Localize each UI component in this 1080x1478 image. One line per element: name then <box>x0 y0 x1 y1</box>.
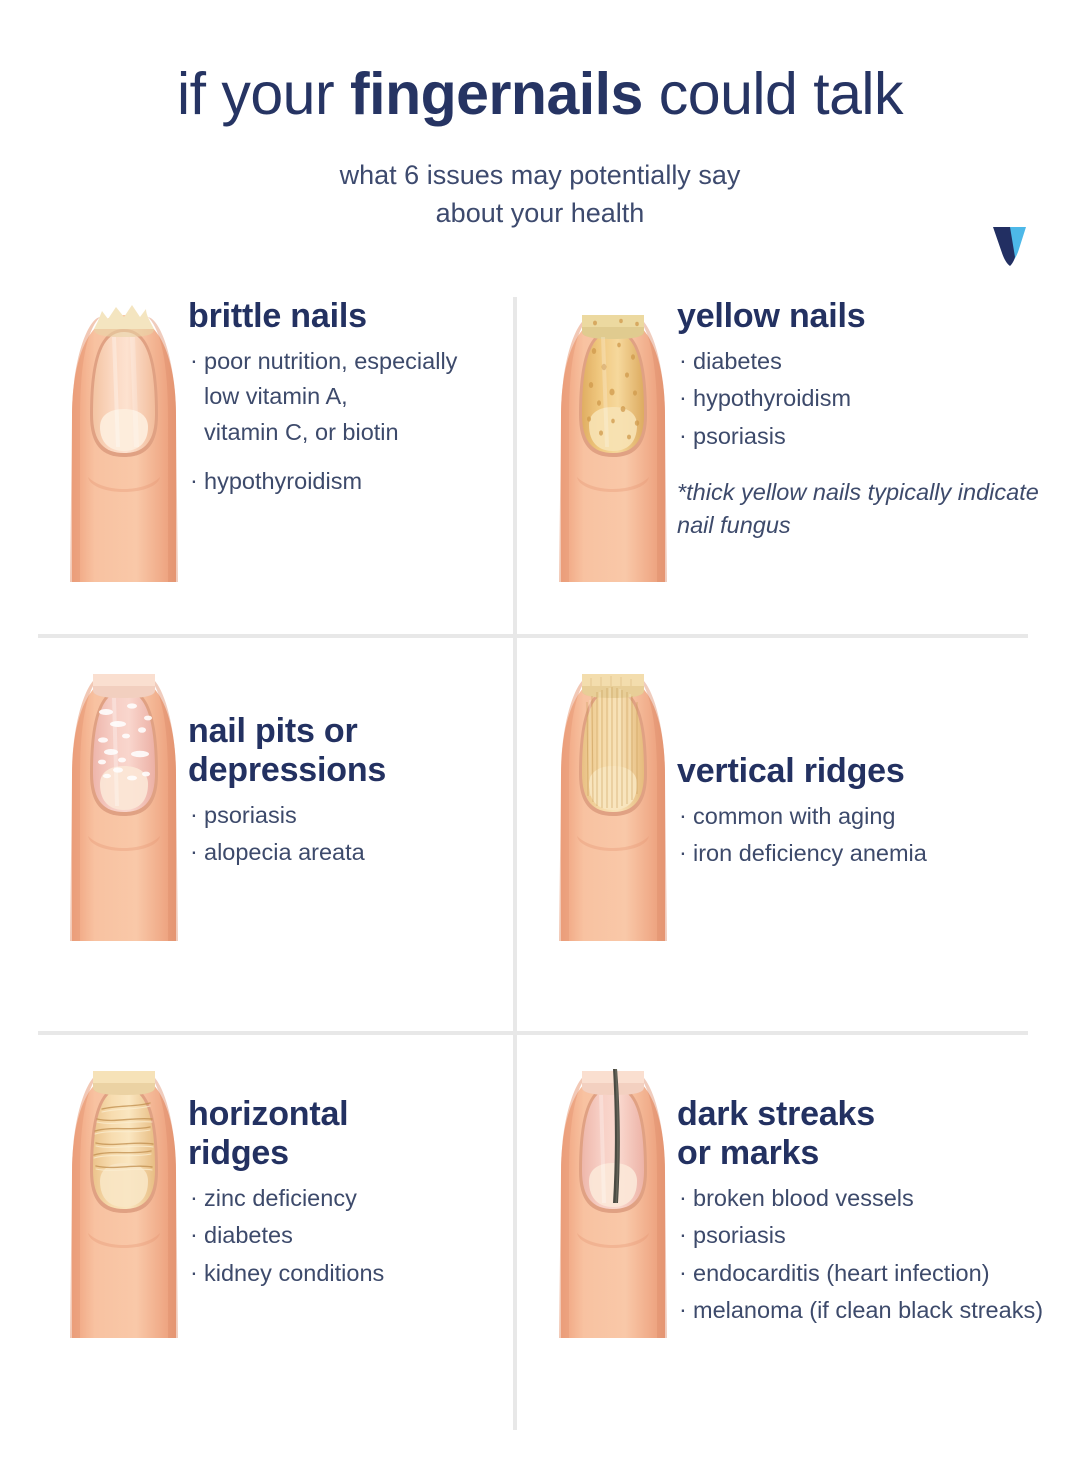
bullet-text-line: low vitamin A, <box>204 383 348 409</box>
infographic-page: if your fingernails could talk what 6 is… <box>0 0 1080 1478</box>
page-subtitle: what 6 issues may potentially say about … <box>0 156 1080 233</box>
title-part-1: if your <box>177 61 350 127</box>
bullet-list-yellow-nails: diabetes hypothyroidism psoriasis <box>677 344 1080 454</box>
card-nail-pits: nail pits or depressions psoriasis alope… <box>0 634 513 1031</box>
bullet-list-horizontal-ridges: zinc deficiency diabetes kidney conditio… <box>188 1181 513 1291</box>
card-title-line-2: or marks <box>677 1134 1080 1173</box>
bullet-item: alopecia areata <box>188 835 513 870</box>
cards-row-3: horizontal ridges zinc deficiency diabet… <box>0 1031 1080 1430</box>
subtitle-line-2: about your health <box>0 194 1080 232</box>
bullet-item: endocarditis (heart infection) <box>677 1256 1080 1291</box>
nail-illustration-yellow <box>549 297 677 582</box>
bullet-item: hypothyroidism <box>188 464 513 499</box>
card-brittle-nails: brittle nails poor nutrition, especially… <box>0 297 513 634</box>
card-yellow-nails: yellow nails diabetes hypothyroidism pso… <box>513 297 1080 634</box>
card-title-line-2: depressions <box>188 751 513 790</box>
bullet-list-nail-pits: psoriasis alopecia areata <box>188 798 513 871</box>
card-text-horizontal-ridges: horizontal ridges zinc deficiency diabet… <box>188 1053 513 1293</box>
card-title-line-1: nail pits or <box>188 712 513 751</box>
card-title-vertical-ridges: vertical ridges <box>677 752 1080 791</box>
bullet-item: common with aging <box>677 799 1080 834</box>
card-title-dark-streaks: dark streaks or marks <box>677 1095 1080 1173</box>
card-horizontal-ridges: horizontal ridges zinc deficiency diabet… <box>0 1031 513 1430</box>
nail-illustration-brittle <box>60 297 188 582</box>
nail-illustration-vertical-ridges <box>549 656 677 941</box>
bullet-item: hypothyroidism <box>677 381 1080 416</box>
bullet-item: psoriasis <box>677 419 1080 454</box>
card-vertical-ridges: vertical ridges common with aging iron d… <box>513 634 1080 1031</box>
card-title-horizontal-ridges: horizontal ridges <box>188 1095 513 1173</box>
bullet-list-dark-streaks: broken blood vessels psoriasis endocardi… <box>677 1181 1080 1328</box>
v-logo-icon <box>979 215 1041 277</box>
bullet-item: broken blood vessels <box>677 1181 1080 1216</box>
card-footnote-yellow-nails: *thick yellow nails typically indicate n… <box>677 476 1080 543</box>
bullet-item: iron deficiency anemia <box>677 836 1080 871</box>
page-title: if your fingernails could talk <box>0 64 1080 126</box>
card-title-yellow-nails: yellow nails <box>677 297 1080 336</box>
cards-row-1: brittle nails poor nutrition, especially… <box>0 297 1080 634</box>
card-dark-streaks: dark streaks or marks broken blood vesse… <box>513 1031 1080 1430</box>
bullet-item: zinc deficiency <box>188 1181 513 1216</box>
card-title-nail-pits: nail pits or depressions <box>188 712 513 790</box>
card-title-line-1: dark streaks <box>677 1095 1080 1134</box>
card-title-brittle-nails: brittle nails <box>188 297 513 336</box>
nail-illustration-pitted <box>60 656 188 941</box>
bullet-item: diabetes <box>188 1218 513 1253</box>
bullet-item: psoriasis <box>188 798 513 833</box>
title-part-2: could talk <box>643 61 903 127</box>
bullet-list-brittle-nails: poor nutrition, especially low vitamin A… <box>188 344 513 499</box>
bullet-text-line: vitamin C, or biotin <box>204 419 399 445</box>
bullet-item: poor nutrition, especially low vitamin A… <box>188 344 513 450</box>
bullet-item: melanoma (if clean black streaks) <box>677 1293 1080 1328</box>
cards-row-2: nail pits or depressions psoriasis alope… <box>0 634 1080 1031</box>
cards-grid: brittle nails poor nutrition, especially… <box>0 297 1080 1430</box>
subtitle-line-1: what 6 issues may potentially say <box>0 156 1080 194</box>
bullet-text-line: poor nutrition, especially <box>204 348 457 374</box>
card-text-dark-streaks: dark streaks or marks broken blood vesse… <box>677 1053 1080 1330</box>
card-text-vertical-ridges: vertical ridges common with aging iron d… <box>677 656 1080 874</box>
bullet-list-vertical-ridges: common with aging iron deficiency anemia <box>677 799 1080 872</box>
nail-illustration-dark-streak <box>549 1053 677 1338</box>
bullet-item: diabetes <box>677 344 1080 379</box>
card-text-brittle-nails: brittle nails poor nutrition, especially… <box>188 297 513 501</box>
nail-illustration-horizontal-ridges <box>60 1053 188 1338</box>
header: if your fingernails could talk what 6 is… <box>0 0 1080 233</box>
card-title-line-2: ridges <box>188 1134 513 1173</box>
card-title-line-1: horizontal <box>188 1095 513 1134</box>
card-text-yellow-nails: yellow nails diabetes hypothyroidism pso… <box>677 297 1080 543</box>
bullet-item: psoriasis <box>677 1218 1080 1253</box>
card-text-nail-pits: nail pits or depressions psoriasis alope… <box>188 656 513 873</box>
bullet-item: kidney conditions <box>188 1256 513 1291</box>
title-emphasis: fingernails <box>350 61 643 127</box>
